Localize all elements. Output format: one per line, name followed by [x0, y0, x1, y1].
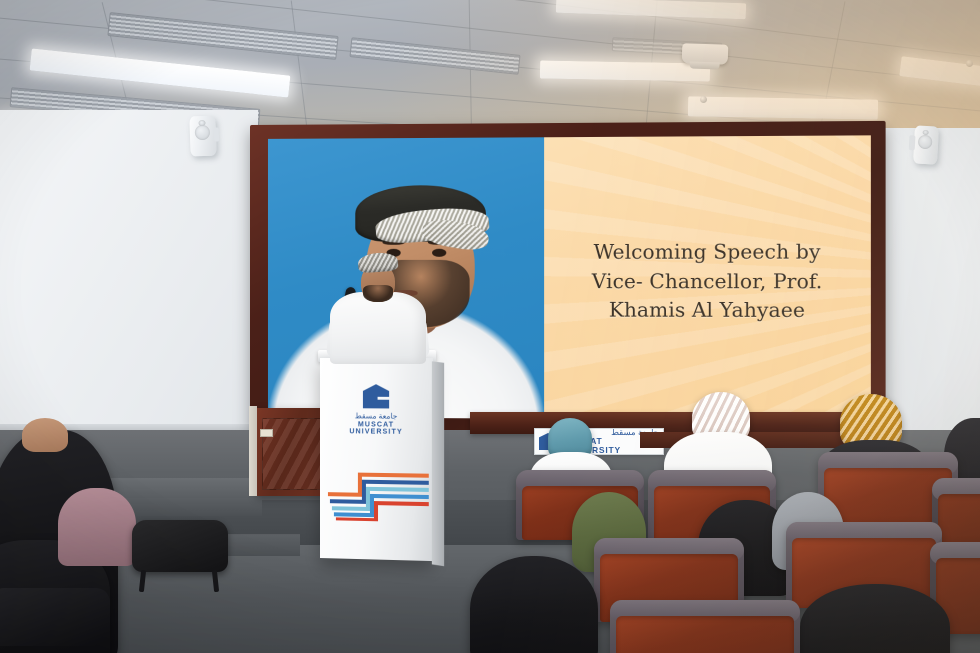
podium-logo-arabic: جامعة مسقط: [330, 411, 423, 421]
audience-shoulder-mauve: [58, 488, 136, 566]
chair-backrest: [132, 520, 228, 572]
audience-black-abaya-front-center: [470, 556, 598, 653]
door-label-tag: [260, 429, 273, 437]
stacking-chair[interactable]: [132, 520, 228, 590]
wall-speaker-left: [189, 116, 216, 157]
auditorium-seat[interactable]: [610, 600, 800, 653]
podium: جامعة مسقط MUSCAT UNIVERSITY: [320, 358, 433, 561]
wooden-door-panel[interactable]: [256, 408, 330, 496]
podium-side-face: [432, 361, 444, 566]
slide-title-line-1: Welcoming Speech by: [592, 238, 823, 268]
stacking-chair[interactable]: [0, 588, 110, 653]
back-wall-rail: [470, 412, 890, 434]
slide-title-line-2: Vice- Chancellor, Prof.: [592, 267, 823, 297]
wall-speaker-right: [913, 125, 939, 164]
podium-chevron-stripes: [326, 454, 431, 522]
speaker-massar: [357, 252, 398, 274]
dishdasha: [330, 292, 426, 364]
slide-title: Welcoming Speech by Vice- Chancellor, Pr…: [582, 238, 833, 331]
slide-title-line-3: Khamis Al Yahyaee: [592, 297, 823, 327]
chair-backrest: [0, 588, 110, 646]
speaker-at-podium: [330, 252, 426, 364]
door-jamb: [249, 406, 257, 496]
audience-head-left: [22, 418, 68, 452]
muscat-university-logo-icon: [363, 384, 389, 408]
slide-text-panel: Welcoming Speech by Vice- Chancellor, Pr…: [545, 135, 871, 420]
conference-hall-photo: Welcoming Speech by Vice- Chancellor, Pr…: [0, 0, 980, 653]
podium-logo: جامعة مسقط MUSCAT UNIVERSITY: [330, 384, 423, 436]
podium-logo-english: MUSCAT UNIVERSITY: [330, 421, 423, 436]
